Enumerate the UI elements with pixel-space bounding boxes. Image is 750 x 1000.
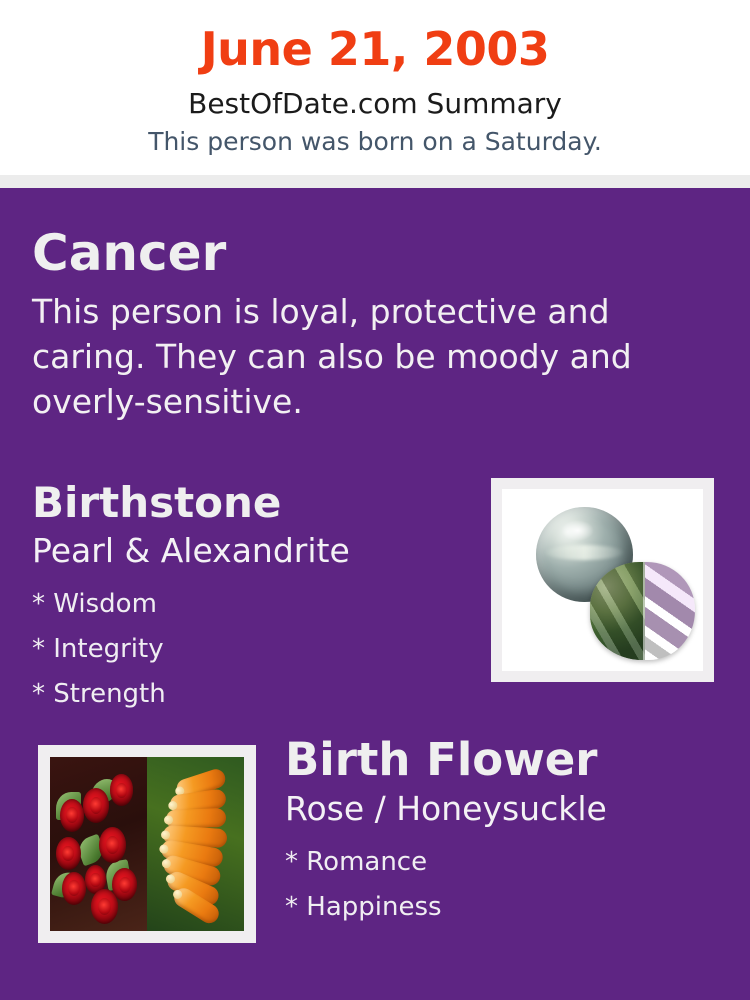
born-day-text: This person was born on a Saturday. xyxy=(0,126,750,157)
birthstone-name: Pearl & Alexandrite xyxy=(32,530,350,572)
zodiac-sign-title: Cancer xyxy=(32,224,226,282)
birth-flower-image-frame xyxy=(38,745,256,943)
list-item: * Romance xyxy=(285,840,442,885)
header: June 21, 2003 BestOfDate.com Summary Thi… xyxy=(0,0,750,175)
site-summary-label: BestOfDate.com Summary xyxy=(0,87,750,121)
zodiac-description: This person is loyal, protective and car… xyxy=(32,289,647,424)
birthstone-title: Birthstone xyxy=(32,478,281,528)
birthstone-image-frame xyxy=(491,478,714,682)
list-item: * Strength xyxy=(32,672,166,717)
alexandrite-gem xyxy=(590,562,695,660)
birth-flower-name: Rose / Honeysuckle xyxy=(285,788,607,830)
summary-card: June 21, 2003 BestOfDate.com Summary Thi… xyxy=(0,0,750,1000)
list-item: * Integrity xyxy=(32,627,166,672)
birthstone-trait-list: * Wisdom * Integrity * Strength xyxy=(32,582,166,717)
honeysuckle-photo-half xyxy=(147,757,244,931)
alexandrite-rough-half xyxy=(590,562,644,660)
birth-flower-photo xyxy=(50,757,244,931)
pearl-highlight-band xyxy=(546,545,623,560)
birthstone-photo xyxy=(502,489,703,671)
alexandrite-faceted-half xyxy=(645,562,695,660)
page-title: June 21, 2003 xyxy=(0,22,750,76)
rose-photo-half xyxy=(50,757,147,931)
birth-flower-title: Birth Flower xyxy=(285,733,598,787)
alexandrite-seam xyxy=(643,562,645,660)
content-panel: Cancer This person is loyal, protective … xyxy=(0,188,750,1000)
list-item: * Happiness xyxy=(285,885,442,930)
birth-flower-trait-list: * Romance * Happiness xyxy=(285,840,442,930)
header-divider xyxy=(0,175,750,188)
list-item: * Wisdom xyxy=(32,582,166,627)
